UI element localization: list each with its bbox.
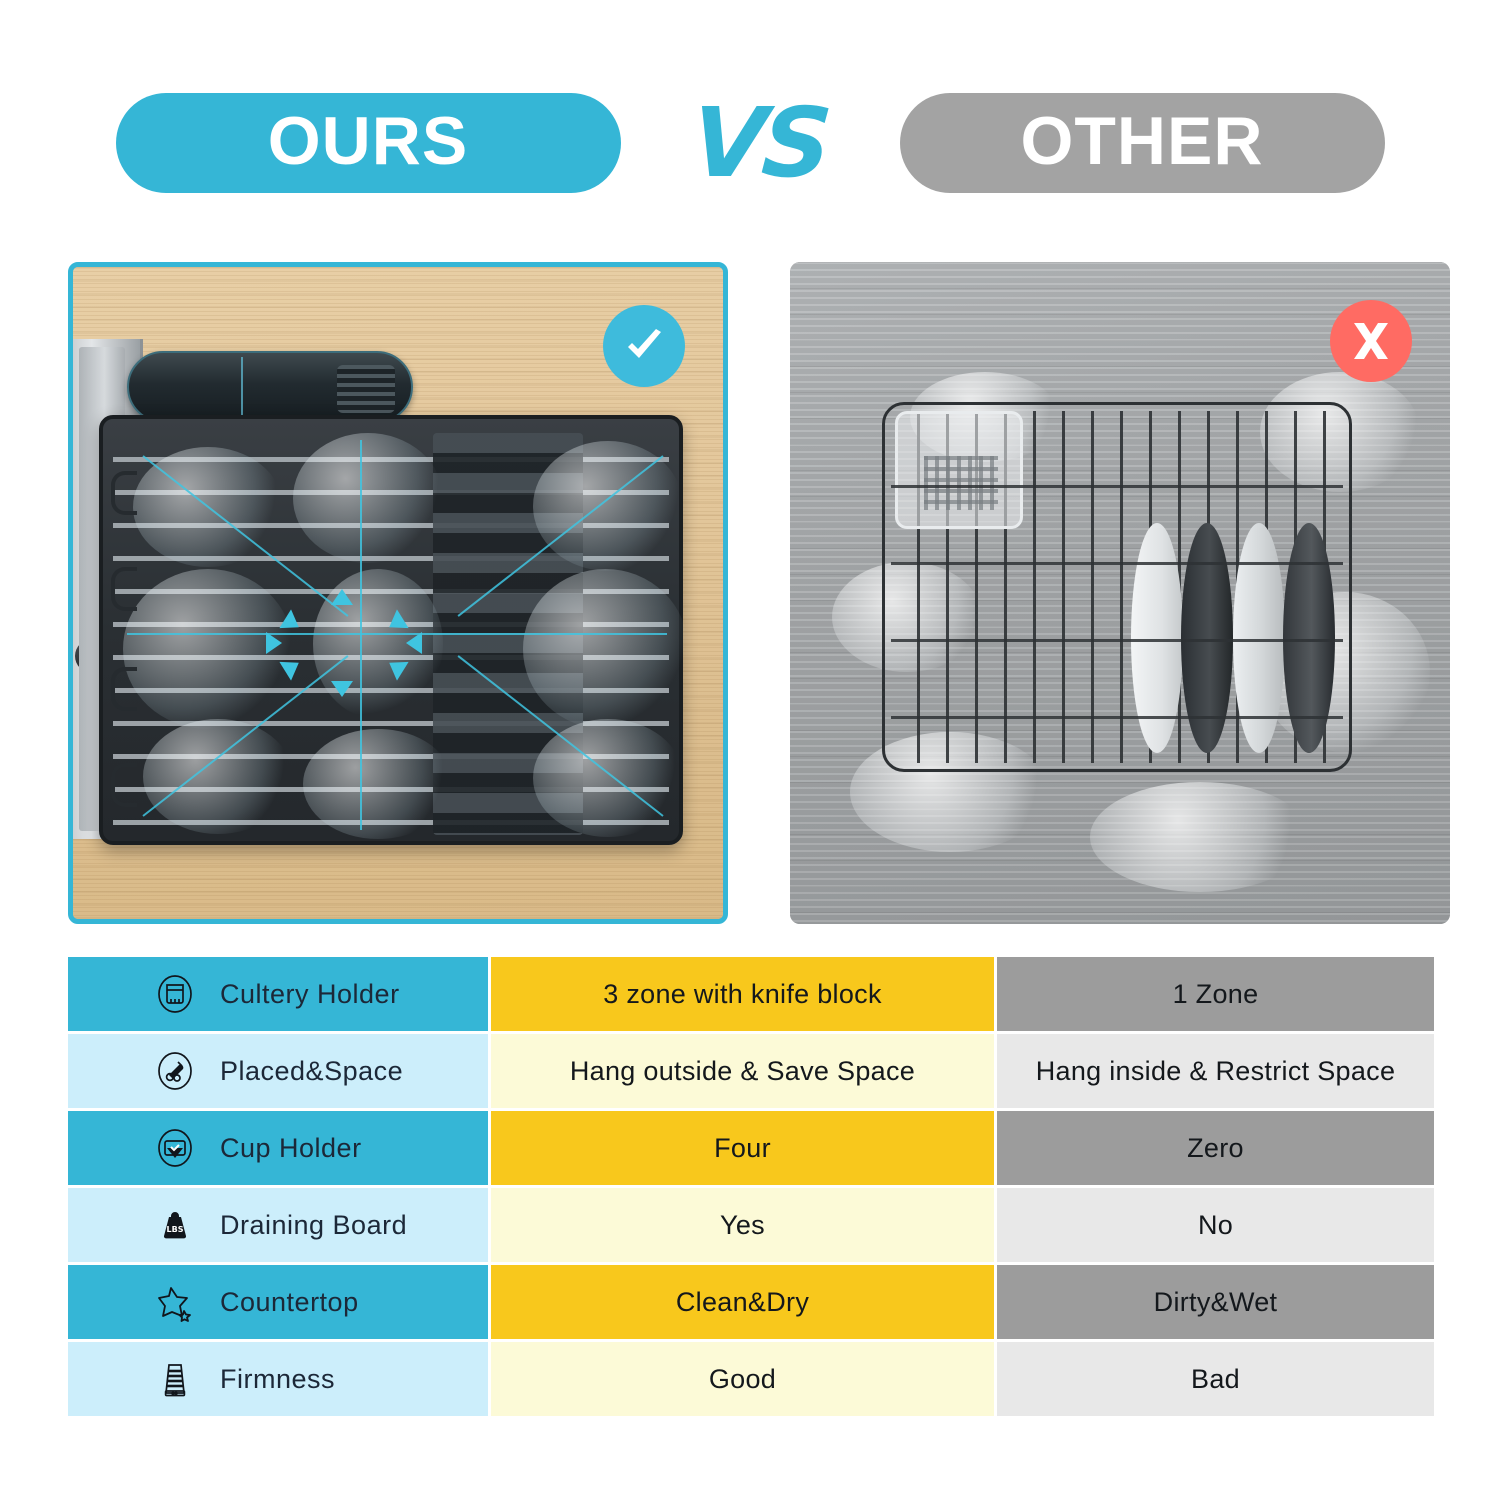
knife-block-caddy — [127, 351, 413, 423]
other-value: Bad — [1191, 1364, 1240, 1395]
rack-handle — [111, 471, 137, 515]
wire-basket — [882, 402, 1352, 772]
plate — [1131, 523, 1183, 753]
ours-value: Four — [714, 1133, 771, 1164]
other-badge: OTHER — [900, 93, 1385, 193]
ours-value: Clean&Dry — [676, 1287, 809, 1318]
ours-badge: OURS — [116, 93, 621, 193]
cutlery-basket — [895, 411, 1023, 529]
other-value: Dirty&Wet — [1154, 1287, 1278, 1318]
other-value-cell: No — [997, 1188, 1434, 1262]
plate — [1181, 523, 1233, 753]
flow-line — [360, 440, 362, 830]
water-patch — [533, 719, 683, 837]
feature-cell: Firmness — [68, 1342, 488, 1416]
ours-photo-card — [68, 262, 728, 924]
table-row: LBS Draining Board Yes No — [68, 1188, 1434, 1262]
ours-value-cell: Good — [491, 1342, 994, 1416]
photo-cards — [68, 262, 1434, 924]
firmness-rack-icon — [152, 1356, 198, 1402]
other-value-cell: Dirty&Wet — [997, 1265, 1434, 1339]
other-value-cell: Hang inside & Restrict Space — [997, 1034, 1434, 1108]
star-icon — [152, 1279, 198, 1325]
other-value: No — [1198, 1210, 1233, 1241]
ours-value: 3 zone with knife block — [603, 979, 882, 1010]
ours-value: Yes — [720, 1210, 765, 1241]
dish-rack — [99, 415, 683, 845]
other-value-cell: 1 Zone — [997, 957, 1434, 1031]
rack-handle — [111, 763, 137, 807]
feature-cell: Placed&Space — [68, 1034, 488, 1108]
water-patch — [523, 569, 688, 729]
ours-value-cell: Yes — [491, 1188, 994, 1262]
ours-value-cell: Four — [491, 1111, 994, 1185]
other-value: 1 Zone — [1173, 979, 1259, 1010]
plate — [1283, 523, 1335, 753]
table-row: Cultery Holder 3 zone with knife block 1… — [68, 957, 1434, 1031]
rack-handle — [111, 567, 137, 611]
svg-text:LBS: LBS — [167, 1225, 184, 1234]
water-patch — [143, 719, 293, 834]
table-row: Placed&Space Hang outside & Save Space H… — [68, 1034, 1434, 1108]
feature-cell: LBS Draining Board — [68, 1188, 488, 1262]
x-icon — [1347, 317, 1395, 365]
water-splash — [1090, 782, 1310, 892]
check-icon — [618, 320, 670, 372]
table-row: Cup Holder Four Zero — [68, 1111, 1434, 1185]
header: OURS VS OTHER — [0, 78, 1500, 208]
x-badge — [1330, 300, 1412, 382]
feature-label: Draining Board — [220, 1210, 407, 1241]
feature-cell: Cultery Holder — [68, 957, 488, 1031]
other-value-cell: Zero — [997, 1111, 1434, 1185]
lbs-weight-icon: LBS — [152, 1202, 198, 1248]
water-patch — [303, 729, 453, 839]
vs-label: VS — [689, 95, 831, 191]
ours-photo — [73, 267, 723, 919]
feature-label: Countertop — [220, 1287, 359, 1318]
table-row: Countertop Clean&Dry Dirty&Wet — [68, 1265, 1434, 1339]
other-photo — [790, 262, 1450, 924]
flow-arrow — [406, 632, 422, 654]
comparison-infographic: OURS VS OTHER — [0, 0, 1500, 1500]
flow-arrow — [331, 589, 353, 605]
other-value-cell: Bad — [997, 1342, 1434, 1416]
other-label: OTHER — [1021, 107, 1264, 175]
vs-separator: VS — [663, 83, 858, 203]
feature-cell: Cup Holder — [68, 1111, 488, 1185]
flow-arrow — [266, 632, 282, 654]
ours-value-cell: 3 zone with knife block — [491, 957, 994, 1031]
placed-space-icon — [152, 1048, 198, 1094]
ours-value: Hang outside & Save Space — [570, 1056, 915, 1087]
ours-value-cell: Clean&Dry — [491, 1265, 994, 1339]
water-patch — [293, 433, 443, 563]
feature-label: Cultery Holder — [220, 979, 400, 1010]
cup-holder-icon — [152, 1125, 198, 1171]
plate — [1233, 523, 1285, 753]
comparison-table: Cultery Holder 3 zone with knife block 1… — [68, 957, 1434, 1419]
feature-label: Firmness — [220, 1364, 335, 1395]
water-patch — [533, 441, 683, 571]
rack-handle — [111, 667, 137, 711]
other-value: Hang inside & Restrict Space — [1036, 1056, 1396, 1087]
other-value: Zero — [1187, 1133, 1244, 1164]
feature-label: Cup Holder — [220, 1133, 362, 1164]
cutlery-holder-icon — [152, 971, 198, 1017]
knife-slots — [337, 365, 395, 413]
table-row: Firmness Good Bad — [68, 1342, 1434, 1416]
ours-value: Good — [709, 1364, 776, 1395]
feature-label: Placed&Space — [220, 1056, 403, 1087]
feature-cell: Countertop — [68, 1265, 488, 1339]
flow-arrow — [331, 681, 353, 697]
check-badge — [603, 305, 685, 387]
ours-label: OURS — [268, 107, 468, 175]
other-photo-card — [790, 262, 1450, 924]
ours-value-cell: Hang outside & Save Space — [491, 1034, 994, 1108]
